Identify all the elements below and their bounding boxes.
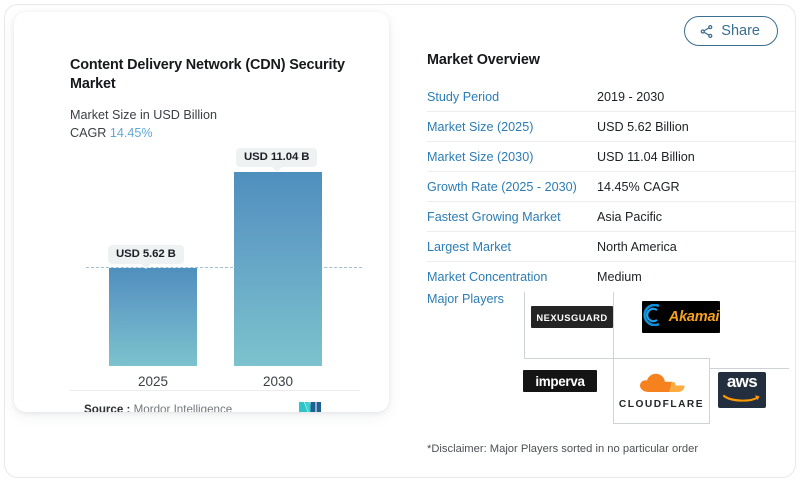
table-row: Fastest Growing Market Asia Pacific bbox=[427, 202, 795, 232]
table-row: Market Concentration Medium bbox=[427, 262, 795, 291]
imperva-logo-text: imperva bbox=[535, 374, 584, 389]
nexusguard-logo-text: NEXUSGUARD bbox=[536, 312, 607, 323]
source-divider bbox=[70, 390, 360, 391]
akamai-swoosh-icon bbox=[643, 304, 663, 331]
table-row: Largest Market North America bbox=[427, 232, 795, 262]
row-value: North America bbox=[597, 240, 677, 254]
row-value: 2019 - 2030 bbox=[597, 90, 664, 104]
row-value: USD 5.62 Billion bbox=[597, 120, 689, 134]
player-logo-nexusguard[interactable]: NEXUSGUARD bbox=[531, 306, 613, 328]
aws-smile-icon bbox=[723, 390, 761, 408]
row-value: USD 11.04 Billion bbox=[597, 150, 695, 164]
share-icon bbox=[699, 24, 714, 39]
player-logo-imperva[interactable]: imperva bbox=[523, 370, 597, 392]
disclaimer-text: *Disclaimer: Major Players sorted in no … bbox=[427, 443, 698, 455]
x-tick-2030: 2030 bbox=[234, 374, 322, 389]
source-line: Source : Mordor Intelligence bbox=[84, 403, 232, 412]
player-logo-aws[interactable]: aws bbox=[718, 372, 766, 408]
bar-label-2025-text: USD 5.62 B bbox=[116, 248, 176, 260]
market-summary-page: Share Content Delivery Network (CDN) Sec… bbox=[0, 0, 800, 482]
player-logo-akamai[interactable]: Akamai bbox=[642, 301, 720, 333]
bar-label-2030-text: USD 11.04 B bbox=[244, 151, 309, 163]
cloudflare-logo-text: CLOUDFLARE bbox=[619, 399, 704, 410]
market-overview-panel: Market Overview Study Period 2019 - 2030… bbox=[424, 0, 800, 482]
row-label: Study Period bbox=[427, 90, 597, 104]
grid-divider bbox=[524, 292, 525, 358]
source-label: Source : bbox=[84, 403, 130, 412]
badge-pointer bbox=[141, 264, 151, 269]
row-label: Market Concentration bbox=[427, 270, 597, 284]
source-name: Mordor Intelligence bbox=[134, 403, 233, 412]
chart-card: Content Delivery Network (CDN) Security … bbox=[14, 12, 389, 412]
row-label: Market Size (2030) bbox=[427, 150, 597, 164]
share-label: Share bbox=[721, 23, 760, 39]
row-label: Largest Market bbox=[427, 240, 597, 254]
overview-title: Market Overview bbox=[427, 52, 540, 68]
aws-logo-text: aws bbox=[727, 373, 757, 390]
grid-divider bbox=[708, 368, 789, 369]
player-logo-cloudflare[interactable]: CLOUDFLARE bbox=[613, 358, 710, 424]
bar-chart-plot: USD 5.62 B USD 11.04 B 2025 2030 bbox=[14, 12, 389, 412]
bar-2030[interactable] bbox=[234, 172, 322, 366]
table-row: Market Size (2025) USD 5.62 Billion bbox=[427, 112, 795, 142]
row-value: Asia Pacific bbox=[597, 210, 662, 224]
row-value: 14.45% CAGR bbox=[597, 180, 680, 194]
akamai-logo-text: Akamai bbox=[669, 309, 719, 325]
grid-divider bbox=[524, 358, 613, 359]
row-label: Fastest Growing Market bbox=[427, 210, 597, 224]
grid-divider bbox=[613, 292, 614, 358]
row-label: Market Size (2025) bbox=[427, 120, 597, 134]
major-players-label: Major Players bbox=[427, 292, 504, 306]
table-row: Growth Rate (2025 - 2030) 14.45% CAGR bbox=[427, 172, 795, 202]
table-row: Market Size (2030) USD 11.04 Billion bbox=[427, 142, 795, 172]
row-label: Growth Rate (2025 - 2030) bbox=[427, 180, 597, 194]
table-row: Study Period 2019 - 2030 bbox=[427, 82, 795, 112]
bar-label-2030: USD 11.04 B bbox=[236, 148, 317, 167]
major-players-logo-grid: NEXUSGUARD Akamai imperva bbox=[524, 292, 789, 422]
x-tick-2025: 2025 bbox=[109, 374, 197, 389]
cloudflare-cloud-icon bbox=[639, 373, 685, 398]
row-value: Medium bbox=[597, 270, 642, 284]
bar-label-2025: USD 5.62 B bbox=[108, 245, 184, 264]
bar-2025[interactable] bbox=[109, 268, 197, 366]
share-button[interactable]: Share bbox=[684, 16, 778, 46]
overview-table: Study Period 2019 - 2030 Market Size (20… bbox=[427, 82, 795, 291]
mordor-intelligence-logo-icon bbox=[299, 402, 321, 412]
badge-pointer bbox=[272, 167, 282, 172]
